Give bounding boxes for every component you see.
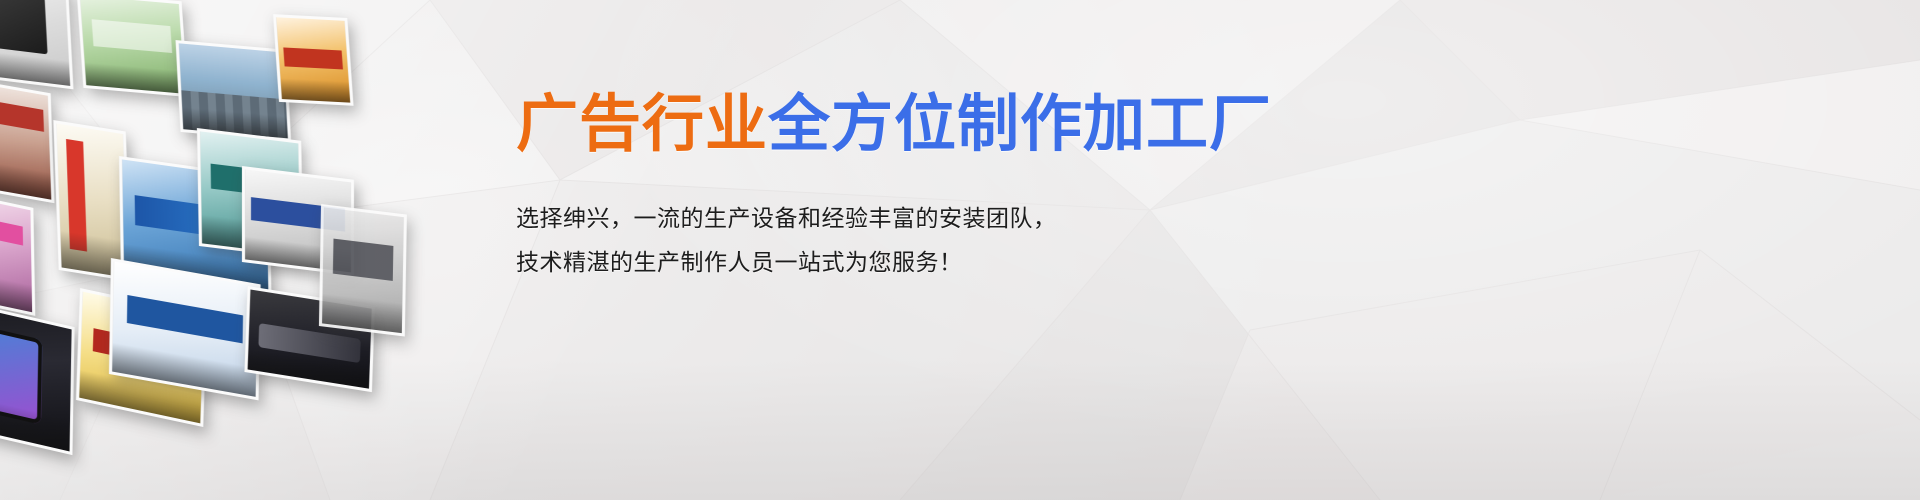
headline-segment-blue: 全方位制作加工厂 xyxy=(768,90,1272,159)
collage-tile-iphone xyxy=(0,300,75,455)
subtitle-line-1: 选择绅兴，一流的生产设备和经验丰富的安装团队， xyxy=(516,196,1276,240)
collage-tile-red-shelf xyxy=(0,78,55,203)
collage-tile-pink-wall xyxy=(0,190,35,316)
headline-segment-orange: 广告行业 xyxy=(516,90,768,159)
collage-photo-caption-shade xyxy=(280,78,350,103)
banner-subtitle: 选择绅兴，一流的生产设备和经验丰富的安装团队， 技术精湛的生产制作人员一站式为您… xyxy=(516,196,1276,284)
collage-tile-phone-box xyxy=(0,0,73,89)
collage-tile-gray-board xyxy=(319,204,407,337)
banner-text-block: 广告行业全方位制作加工厂 选择绅兴，一流的生产设备和经验丰富的安装团队， 技术精… xyxy=(516,92,1276,284)
collage-tile-orange-sign xyxy=(273,14,354,106)
advertising-signage-photo-collage xyxy=(0,0,480,500)
subtitle-line-2: 技术精湛的生产制作人员一站式为您服务！ xyxy=(516,240,1276,284)
collage-tile-green-sign xyxy=(77,0,189,97)
collage-tile-city-view xyxy=(176,40,291,142)
banner-headline: 广告行业全方位制作加工厂 xyxy=(516,92,1276,158)
promo-banner: 广告行业全方位制作加工厂 选择绅兴，一流的生产设备和经验丰富的安装团队， 技术精… xyxy=(0,0,1920,500)
